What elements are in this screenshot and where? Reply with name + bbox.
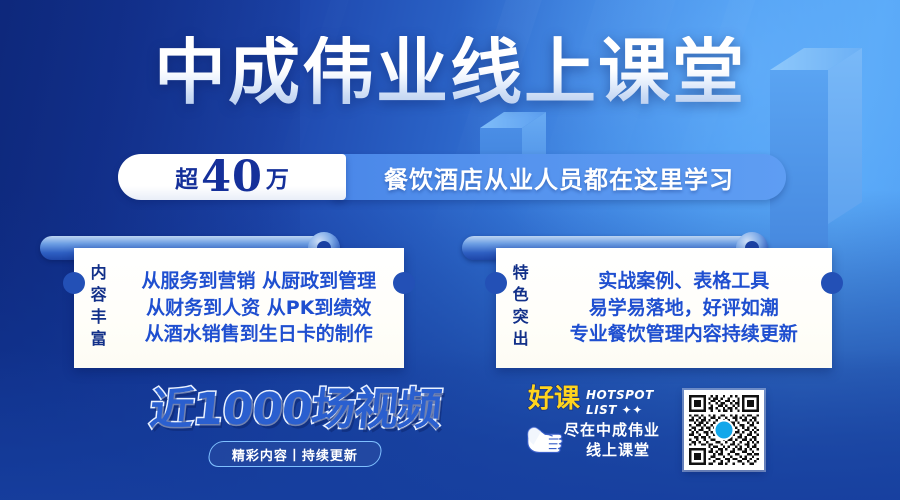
- badge-prefix: 超: [175, 160, 198, 194]
- promo-banner: 中成伟业线上课堂 超 40 万 餐饮酒店从业人员都在这里学习 内容丰富 从服务到…: [0, 0, 900, 500]
- brand-line-1: 尽在中成伟业: [564, 420, 678, 440]
- card-lines: 从服务到营销 从厨政到管理 从财务到人资 从PK到绩效 从酒水销售到生日卡的制作: [114, 268, 404, 349]
- brand-lockup: 好课 HOTSPOT LIST ✦✦ 尽在中成伟业 线上课堂: [528, 386, 678, 478]
- card-line: 从酒水销售到生日卡的制作: [114, 321, 404, 348]
- background-bottom-band: [0, 350, 900, 500]
- learner-count-badge: 超 40 万: [118, 154, 346, 200]
- card-notch-left: [485, 272, 507, 294]
- banner-title: 中成伟业线上课堂: [0, 36, 900, 108]
- badge-number: 40: [201, 156, 263, 199]
- brand-highlight: 好课: [528, 386, 580, 412]
- card-body: 内容丰富 从服务到营销 从厨政到管理 从财务到人资 从PK到绩效 从酒水销售到生…: [74, 248, 404, 368]
- video-count-tagline: 精彩内容丨持续更新: [232, 445, 358, 464]
- card-line: 从服务到营销 从厨政到管理: [114, 268, 404, 295]
- video-count-headline: 近1000场视频: [147, 388, 442, 432]
- card-line: 实战案例、表格工具: [536, 268, 832, 295]
- brand-latin-line-1: HOTSPOT: [586, 388, 654, 403]
- video-count-tagline-pill: 精彩内容丨持续更新: [206, 441, 384, 467]
- card-line: 易学易落地，好评如潮: [536, 295, 832, 322]
- card-body: 特色突出 实战案例、表格工具 易学易落地，好评如潮 专业餐饮管理内容持续更新: [496, 248, 832, 368]
- card-vertical-label: 内容丰富: [88, 264, 106, 352]
- card-line: 专业餐饮管理内容持续更新: [536, 321, 832, 348]
- subtitle-banner: 餐饮酒店从业人员都在这里学习: [332, 154, 786, 200]
- card-lines: 实战案例、表格工具 易学易落地，好评如潮 专业餐饮管理内容持续更新: [536, 268, 832, 349]
- card-vertical-label: 特色突出: [510, 264, 528, 352]
- video-count-block: 近1000场视频 精彩内容丨持续更新: [140, 388, 450, 467]
- subtitle-row: 超 40 万 餐饮酒店从业人员都在这里学习: [118, 154, 786, 200]
- card-line: 从财务到人资 从PK到绩效: [114, 295, 404, 322]
- card-notch-left: [63, 272, 85, 294]
- qr-code[interactable]: [684, 390, 764, 470]
- card-notch-right: [393, 272, 415, 294]
- subtitle-text: 餐饮酒店从业人员都在这里学习: [384, 160, 734, 195]
- badge-suffix: 万: [266, 160, 289, 194]
- card-notch-right: [821, 272, 843, 294]
- brand-line-2: 线上课堂: [564, 440, 678, 460]
- brand-latin-line-2: LIST ✦✦: [586, 403, 654, 418]
- qr-center-logo: [714, 420, 735, 441]
- pointing-hand-icon: [522, 416, 568, 462]
